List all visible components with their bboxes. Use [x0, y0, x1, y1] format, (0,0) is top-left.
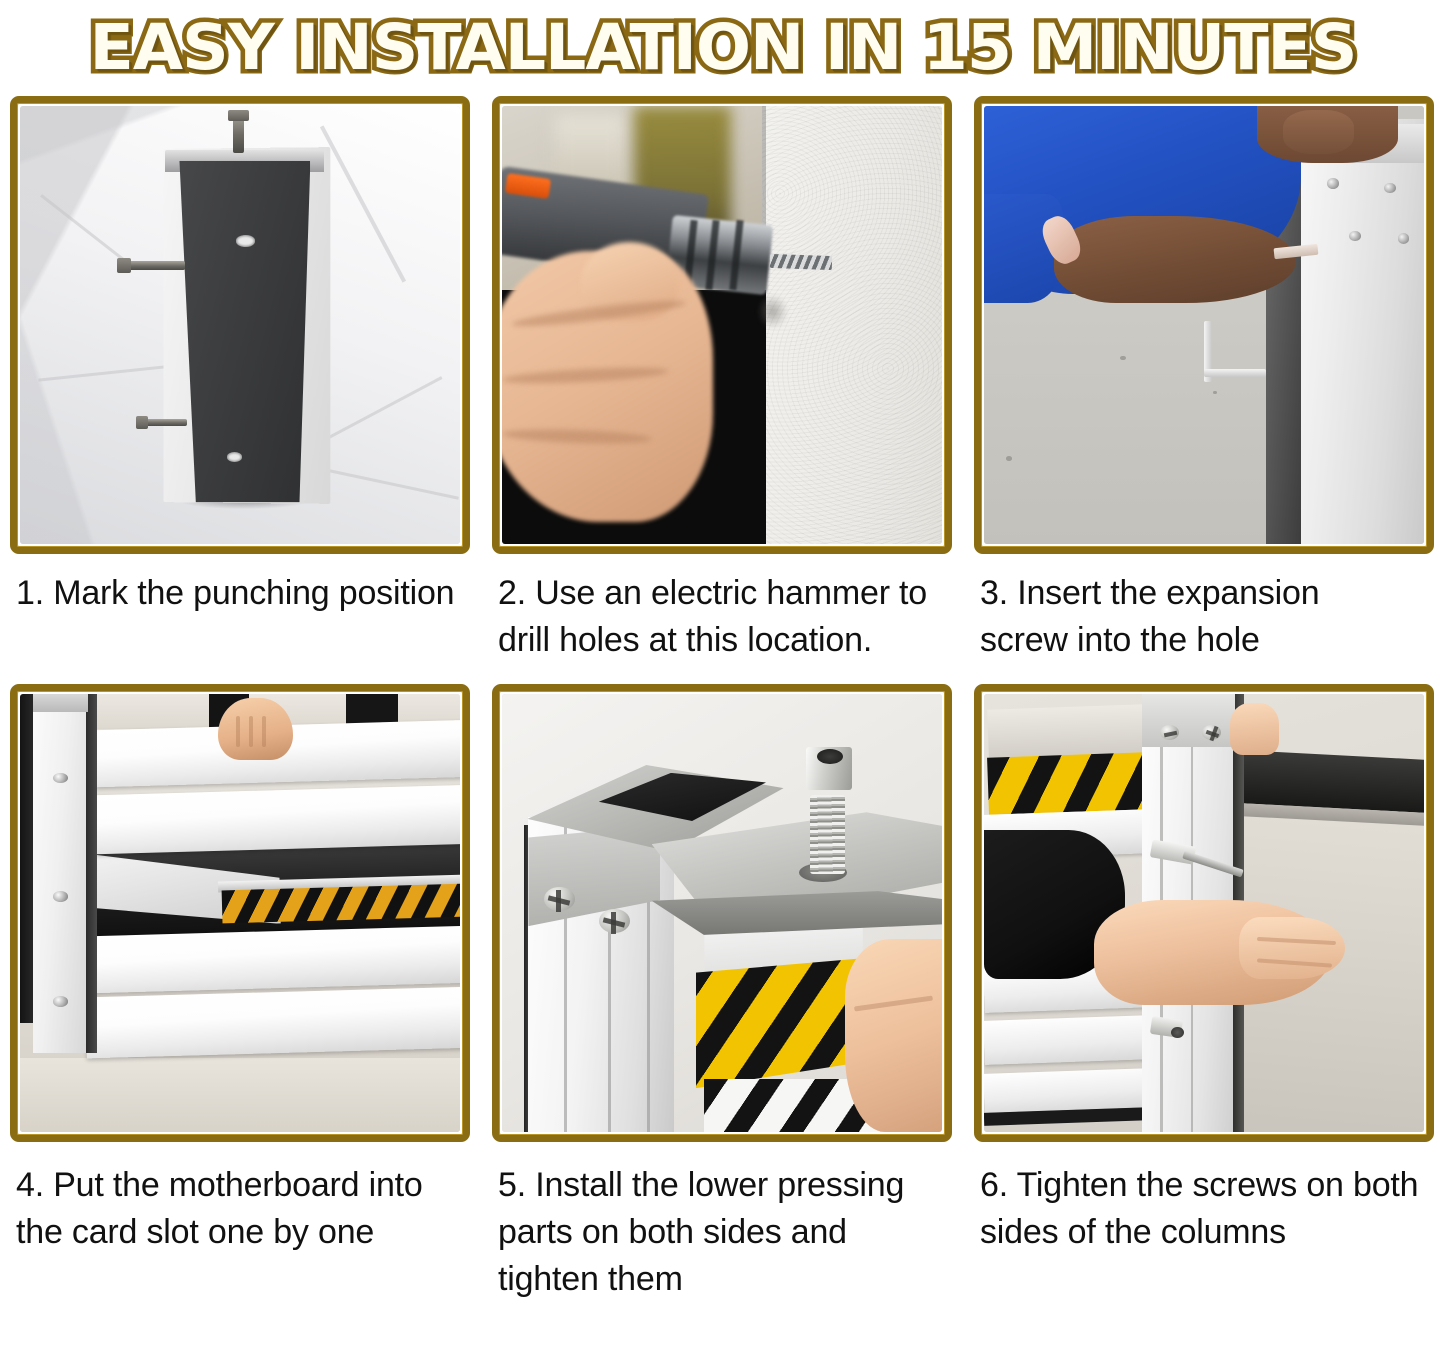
hand-fingers: [1239, 917, 1345, 978]
column-screw: [1327, 178, 1338, 189]
aluminium-column: [1301, 119, 1424, 544]
motherboard-panel: [94, 785, 460, 855]
hex-key-horizontal: [1204, 369, 1266, 377]
white-board: [984, 1015, 1152, 1065]
step-1-photo-frame: [10, 96, 470, 554]
side-bolt-head: [117, 258, 131, 273]
step-3-caption: 3. Insert the expansion screw into the h…: [974, 554, 1434, 664]
column-screw: [1384, 183, 1395, 194]
marking-hole: [236, 235, 255, 246]
upper-hand: [1283, 110, 1353, 154]
hand: [845, 939, 942, 1132]
step-5-caption: 5. Install the lower pressing parts on b…: [492, 1142, 952, 1303]
step-card-6: 6. Tighten the screws on both sides of t…: [974, 684, 1434, 1303]
motherboard-panel: [85, 986, 460, 1058]
forearm: [1054, 216, 1296, 304]
column-top-cap: [33, 694, 88, 712]
step-card-5: 5. Install the lower pressing parts on b…: [492, 684, 952, 1303]
step-5-photo-frame: [492, 684, 952, 1142]
step-card-1: 1. Mark the punching position: [10, 96, 470, 664]
floor-speck: [1213, 391, 1217, 395]
finger: [236, 716, 240, 747]
motherboard-panel: [85, 925, 460, 993]
step-1-photo: [20, 106, 460, 544]
hazard-stripe-board: [987, 753, 1147, 815]
step-6-photo-frame: [974, 684, 1434, 1142]
page-title: EASY INSTALLATION IN 15 MINUTES: [85, 15, 1360, 81]
side-bolt-head: [136, 416, 148, 429]
drill-bit: [770, 254, 832, 270]
row-spacer: [10, 664, 1435, 684]
floor: [20, 1058, 460, 1132]
step-4-photo-frame: [10, 684, 470, 1142]
bolt-hex-socket: [817, 749, 843, 764]
hand: [218, 698, 293, 759]
step-6-photo: [984, 694, 1424, 1132]
step-2-caption: 2. Use an electric hammer to drill holes…: [492, 554, 952, 664]
upper-hand: [1230, 703, 1278, 756]
step-3-photo-frame: [974, 96, 1434, 554]
upper-white-board: [988, 704, 1148, 758]
steps-row-1: 1. Mark the punching position: [10, 96, 1435, 664]
steps-row-2: 4. Put the motherboard into the card slo…: [10, 684, 1435, 1303]
step-card-3: 3. Insert the expansion screw into the h…: [974, 96, 1434, 664]
column-dark-edge: [86, 694, 97, 1053]
column-screw: [1349, 231, 1360, 242]
floor-speck: [1120, 356, 1125, 360]
step-card-2: 2. Use an electric hammer to drill holes…: [492, 96, 952, 664]
marking-hole: [227, 452, 242, 462]
drill-dust: [757, 294, 788, 329]
hazard-stripe-board: [222, 883, 460, 923]
phillips-cross: [556, 890, 561, 912]
column-top-cap: [1142, 694, 1234, 747]
column-screw: [1398, 233, 1409, 244]
phillips-cross: [611, 912, 616, 934]
step-4-caption: 4. Put the motherboard into the card slo…: [10, 1142, 470, 1256]
white-board: [984, 1068, 1152, 1113]
finger: [262, 716, 266, 747]
title-bar: EASY INSTALLATION IN 15 MINUTES: [0, 0, 1445, 96]
column-screw: [53, 891, 68, 902]
step-1-caption: 1. Mark the punching position: [10, 554, 470, 617]
step-card-4: 4. Put the motherboard into the card slo…: [10, 684, 470, 1303]
step-4-photo: [20, 694, 460, 1132]
step-3-photo: [984, 106, 1424, 544]
step-2-photo: [502, 106, 942, 544]
finger: [249, 716, 253, 747]
floor-speck: [1006, 456, 1012, 460]
column-screw: [53, 996, 68, 1007]
step-2-photo-frame: [492, 96, 952, 554]
textured-wall: [762, 106, 942, 544]
step-6-caption: 6. Tighten the screws on both sides of t…: [974, 1142, 1434, 1256]
installation-steps-grid: 1. Mark the punching position: [0, 96, 1445, 1303]
bolt-thread: [810, 795, 845, 874]
step-5-photo: [502, 694, 942, 1132]
top-bolt-head: [228, 110, 249, 121]
marking-template-plate: [174, 161, 310, 503]
